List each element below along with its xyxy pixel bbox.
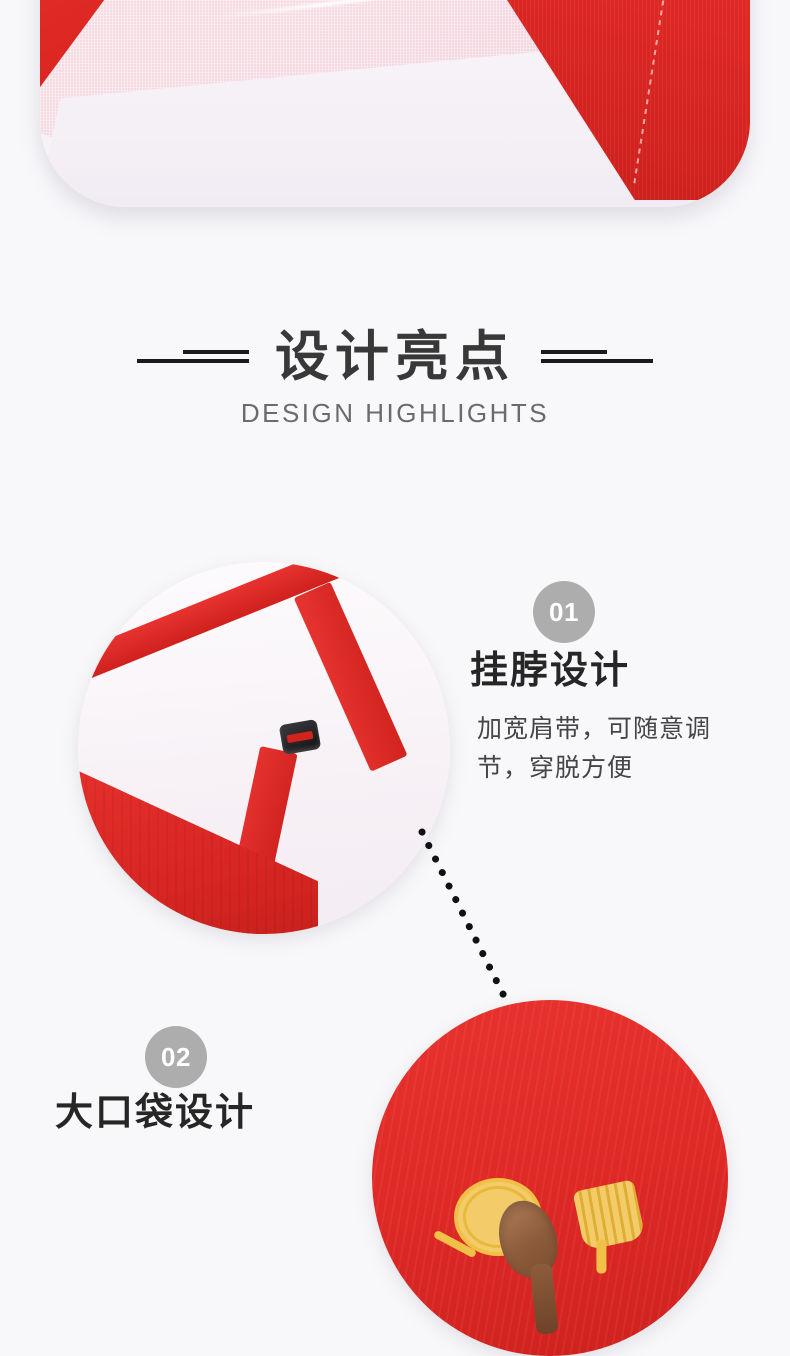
adjuster-buckle-icon: [279, 719, 322, 755]
feature-01-number-badge: 01: [533, 581, 595, 643]
section-title-block: 设计亮点 DESIGN HIGHLIGHTS: [0, 330, 790, 426]
section-title-row: 设计亮点: [0, 330, 790, 384]
rule-bar-top: [183, 350, 249, 354]
feature-01-photo: [78, 562, 450, 934]
feature-01-heading: 挂脖设计: [470, 650, 630, 694]
feature-02-heading: 大口袋设计: [55, 1092, 255, 1136]
feature-01-description: 加宽肩带，可随意调节，穿脱方便: [477, 710, 749, 788]
bodice-hem-stitching: [78, 906, 230, 934]
hero-product-image: [40, 0, 750, 207]
gold-spatula-icon: [572, 1179, 645, 1251]
rule-bar-bottom: [137, 359, 249, 363]
page-subtitle: DESIGN HIGHLIGHTS: [0, 400, 790, 426]
title-rule-left-icon: [139, 346, 249, 368]
feature-02-number-badge: 02: [145, 1026, 207, 1088]
page-title: 设计亮点: [275, 330, 515, 384]
feature-02-photo: [372, 1000, 728, 1356]
dotted-connector-icon: [418, 828, 518, 1008]
rule-bar-top: [541, 350, 607, 354]
rule-bar-bottom: [541, 359, 653, 363]
hero-canvas: [40, 0, 750, 207]
title-rule-right-icon: [541, 346, 651, 368]
